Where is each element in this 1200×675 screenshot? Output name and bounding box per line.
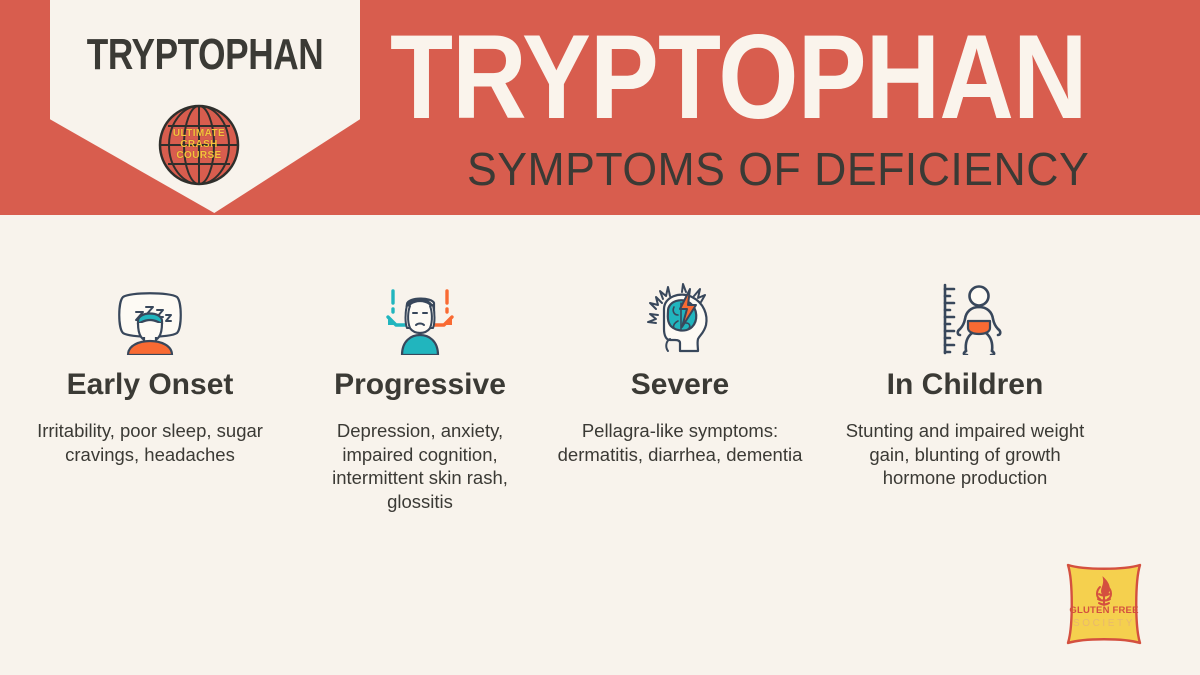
symptom-heading: Progressive: [334, 370, 506, 400]
gluten-free-society-badge-icon: [1062, 561, 1146, 647]
globe-icon: [157, 103, 241, 187]
icon-wrapper: [919, 283, 1011, 355]
page-title: TRYPTOPHAN: [390, 14, 1087, 140]
symptom-body: Stunting and impaired weight gain, blunt…: [845, 419, 1085, 490]
icon-wrapper: [634, 283, 726, 355]
symptom-column-progressive: Progressive Depression, anxiety, impaire…: [300, 283, 540, 543]
symptom-column-severe: Severe Pellagra-like symptoms: dermatiti…: [540, 283, 820, 543]
symptom-heading: Severe: [631, 370, 729, 400]
header-band: TRYPTOPHAN ULTIMATE CRASH COURSE TRYPTOP…: [0, 0, 1200, 215]
page-subtitle: SYMPTOMS OF DEFICIENCY: [467, 146, 1089, 192]
child-growth-ruler-icon: [919, 283, 1011, 355]
brand-badge-title: TRYPTOPHAN: [81, 30, 329, 80]
gluten-free-society-logo: GLUTEN FREE SOCIETY: [1062, 561, 1146, 647]
symptom-heading: In Children: [887, 370, 1044, 400]
icon-wrapper: [374, 283, 466, 355]
symptom-body: Pellagra-like symptoms: dermatitis, diar…: [552, 419, 808, 466]
symptom-body: Irritability, poor sleep, sugar cravings…: [24, 419, 276, 466]
infographic-canvas: TRYPTOPHAN ULTIMATE CRASH COURSE TRYPTOP…: [0, 0, 1200, 675]
sleeping-person-pillow-icon: [104, 283, 196, 355]
symptom-column-early-onset: Early Onset Irritability, poor sleep, su…: [0, 283, 300, 543]
symptom-body: Depression, anxiety, impaired cognition,…: [304, 419, 536, 514]
icon-wrapper: [104, 283, 196, 355]
head-brain-lightning-icon: [634, 283, 726, 355]
symptom-columns: Early Onset Irritability, poor sleep, su…: [0, 283, 1200, 543]
globe-logo: ULTIMATE CRASH COURSE: [157, 103, 241, 187]
symptom-heading: Early Onset: [67, 370, 234, 400]
symptom-column-in-children: In Children Stunting and impaired weight…: [820, 283, 1110, 543]
anxious-person-alert-arrows-icon: [374, 283, 466, 355]
